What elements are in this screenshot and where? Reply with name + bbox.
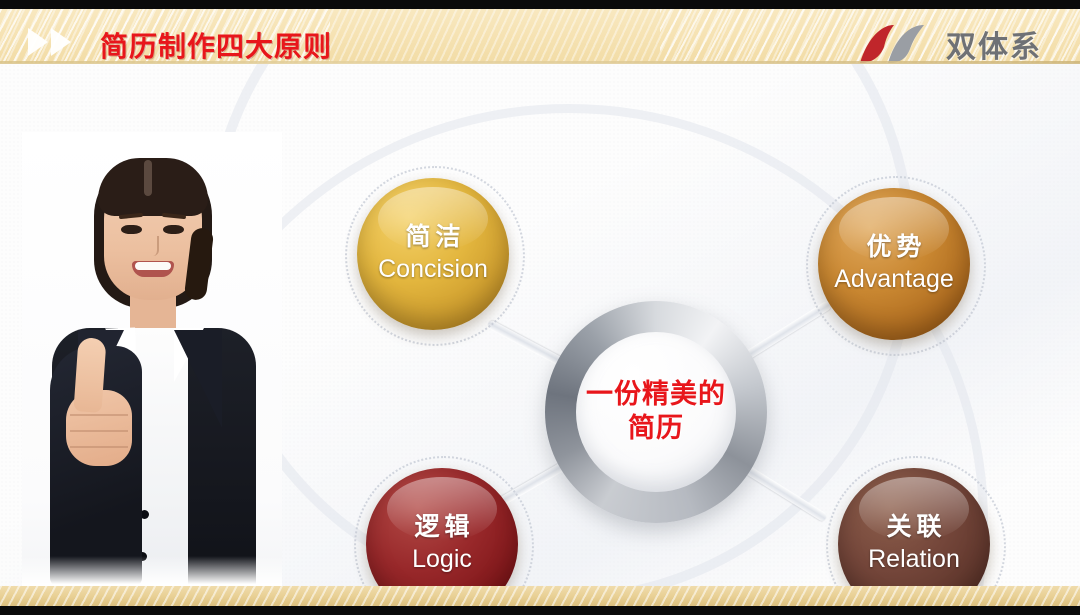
bottom-gold-band: [0, 586, 1080, 606]
teeth: [135, 262, 171, 270]
node-label-en: Concision: [378, 254, 488, 284]
node-logic[interactable]: 逻辑 Logic: [366, 468, 518, 586]
node-relation[interactable]: 关联 Relation: [838, 468, 990, 586]
hub-text-line2: 简历: [628, 412, 684, 446]
slide-canvas: 一份精美的 简历 简洁 Concision 优势 Advantage 逻辑 Lo…: [0, 64, 1080, 586]
hair-front: [98, 158, 208, 216]
node-concision[interactable]: 简洁 Concision: [357, 178, 509, 330]
node-label-cn: 关联: [881, 514, 946, 542]
thumbs-up-thumb: [73, 337, 106, 413]
knuckle-line-3: [70, 446, 128, 448]
nose: [148, 236, 159, 256]
jacket-lapel-right: [174, 330, 222, 428]
hub-text-line1: 一份精美的: [586, 378, 726, 412]
double-slash-logo-icon: [858, 23, 932, 63]
knuckle-line-2: [70, 430, 128, 432]
node-advantage[interactable]: 优势 Advantage: [818, 188, 970, 340]
hub-center: 一份精美的 简历: [576, 332, 736, 492]
bottom-black-bar: [0, 606, 1080, 615]
node-label-cn: 逻辑: [409, 514, 474, 542]
hair-part: [144, 160, 152, 196]
slide-root: 简历制作四大原则 双体系: [0, 0, 1080, 615]
eye-left: [121, 225, 142, 234]
node-label-cn: 优势: [861, 234, 926, 262]
page-title: 简历制作四大原则: [100, 25, 332, 63]
brand-logo: 双体系: [858, 23, 1042, 63]
eye-right: [163, 225, 184, 234]
node-label-en: Relation: [868, 544, 960, 574]
node-label-en: Advantage: [834, 264, 954, 294]
slide-header: 简历制作四大原则 双体系: [0, 9, 1080, 63]
photo-bottom-fade: [22, 556, 282, 586]
knuckle-line-1: [70, 414, 128, 416]
brand-name: 双体系: [946, 22, 1042, 63]
smiling-mouth: [132, 261, 174, 277]
node-label-en: Logic: [412, 544, 472, 574]
chevron-right-icon-1: [28, 28, 48, 56]
double-chevron-right-icon: [28, 28, 94, 56]
businesswoman-photo: [22, 132, 282, 586]
chevron-right-icon-2: [51, 28, 71, 56]
background-arc-1: [205, 64, 915, 586]
node-label-cn: 简洁: [400, 224, 465, 252]
top-black-bar: [0, 0, 1080, 9]
